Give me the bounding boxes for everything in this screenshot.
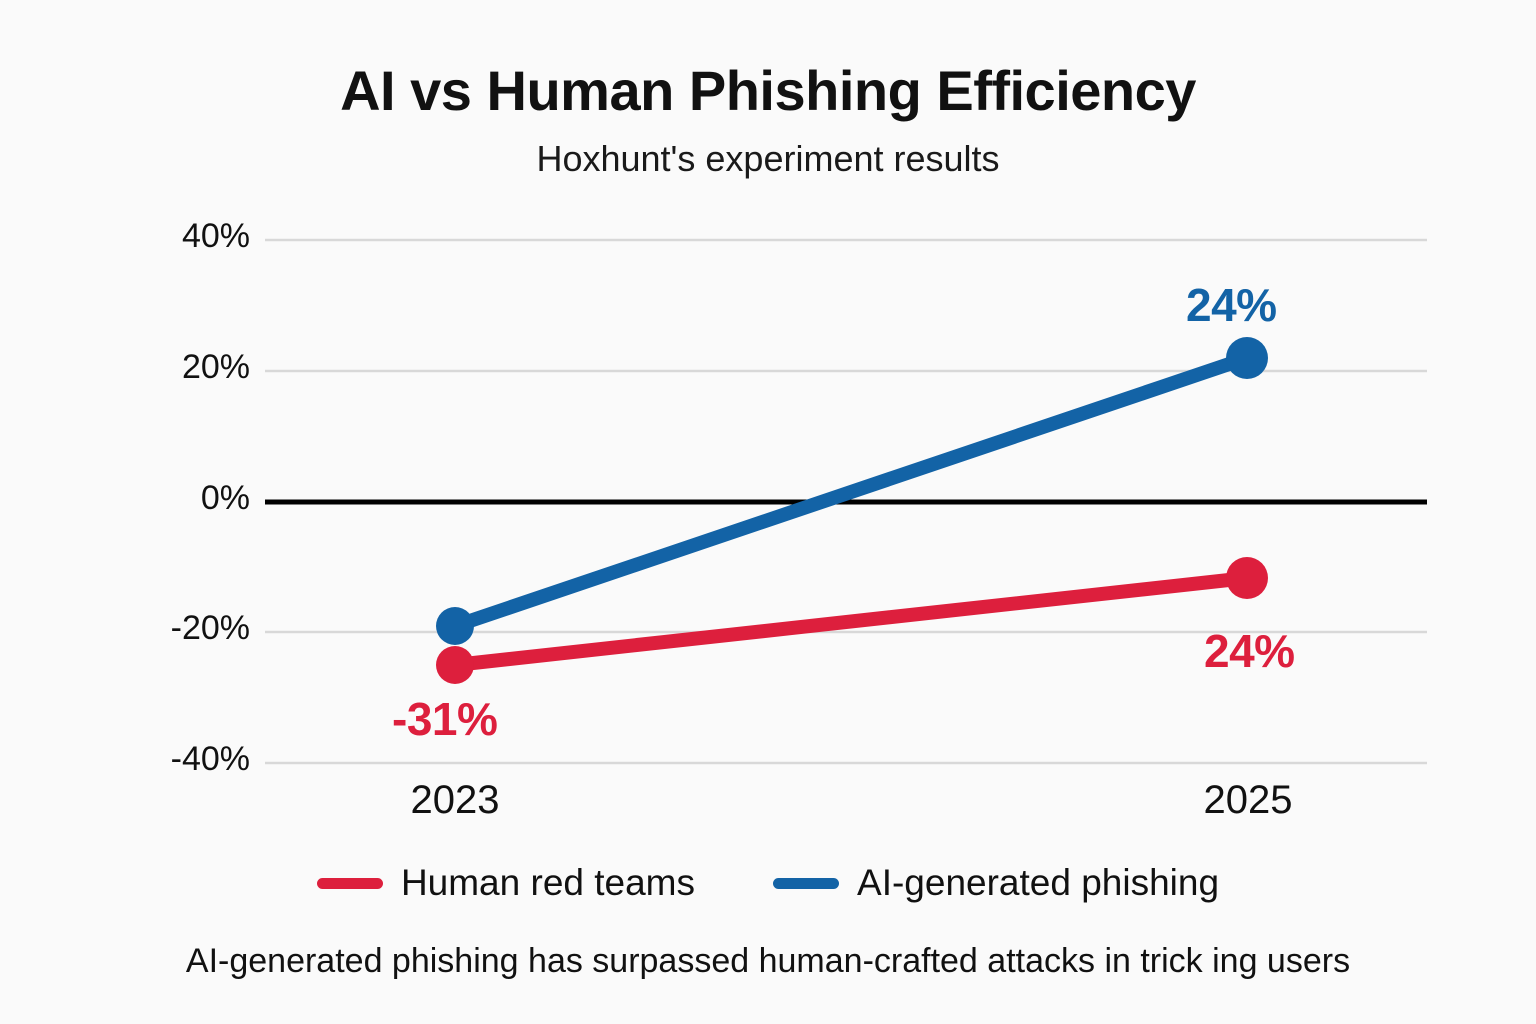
x-tick-label-2025: 2025 [1128, 778, 1368, 823]
label-human-2023: -31% [392, 692, 497, 746]
legend-label-ai-generated-phishing: AI-generated phishing [857, 862, 1219, 904]
chart-canvas: AI vs Human Phishing Efficiency Hoxhunt'… [0, 0, 1536, 1024]
y-tick-label-20: 20% [120, 350, 250, 384]
point-ai-2023 [436, 607, 474, 645]
chart-legend: Human red teams AI-generated phishing [0, 862, 1536, 904]
legend-swatch-blue-line-icon [773, 878, 839, 889]
label-ai-2025: 24% [1186, 278, 1277, 332]
point-human-2023 [436, 646, 474, 684]
point-ai-2025 [1226, 337, 1268, 379]
label-human-2025: 24% [1204, 624, 1295, 678]
legend-item-human-red-teams[interactable]: Human red teams [317, 862, 695, 904]
x-tick-label-2023: 2023 [335, 778, 575, 823]
series-human-red-teams [436, 557, 1268, 684]
y-tick-label-neg20: -20% [120, 611, 250, 645]
point-human-2025 [1226, 557, 1268, 599]
legend-swatch-red-line-icon [317, 878, 383, 889]
y-tick-label-neg40: -40% [120, 742, 250, 776]
y-tick-label-40: 40% [120, 219, 250, 253]
chart-caption: AI-generated phishing has surpassed huma… [0, 942, 1536, 981]
y-tick-label-0: 0% [120, 481, 250, 515]
series-ai-generated-phishing [436, 337, 1268, 645]
legend-item-ai-generated-phishing[interactable]: AI-generated phishing [773, 862, 1219, 904]
legend-label-human-red-teams: Human red teams [401, 862, 695, 904]
